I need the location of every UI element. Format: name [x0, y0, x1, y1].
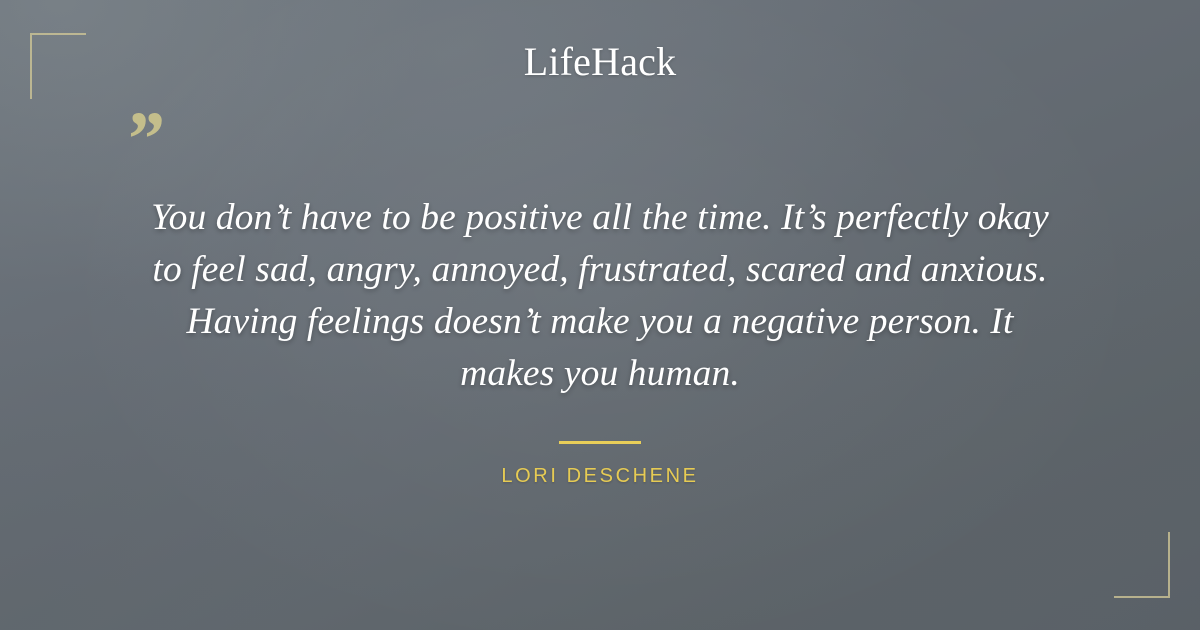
quote-line: You don’t have to be positive all the ti…: [60, 192, 1140, 244]
divider-container: [0, 434, 1200, 452]
quote-text: You don’t have to be positive all the ti…: [60, 192, 1140, 400]
quote-line: Having feelings doesn’t make you a negat…: [60, 296, 1140, 348]
quote-line: to feel sad, angry, annoyed, frustrated,…: [60, 244, 1140, 296]
brand-logo: LifeHack: [0, 40, 1200, 84]
quotation-mark-icon: ”: [124, 100, 163, 178]
quote-line: makes you human.: [60, 348, 1140, 400]
corner-bracket-bottom-right: [1114, 532, 1170, 598]
accent-divider: [559, 441, 641, 444]
quote-card: LifeHack ” You don’t have to be positive…: [0, 0, 1200, 630]
author-attribution: LORI DESCHENE: [0, 463, 1200, 489]
